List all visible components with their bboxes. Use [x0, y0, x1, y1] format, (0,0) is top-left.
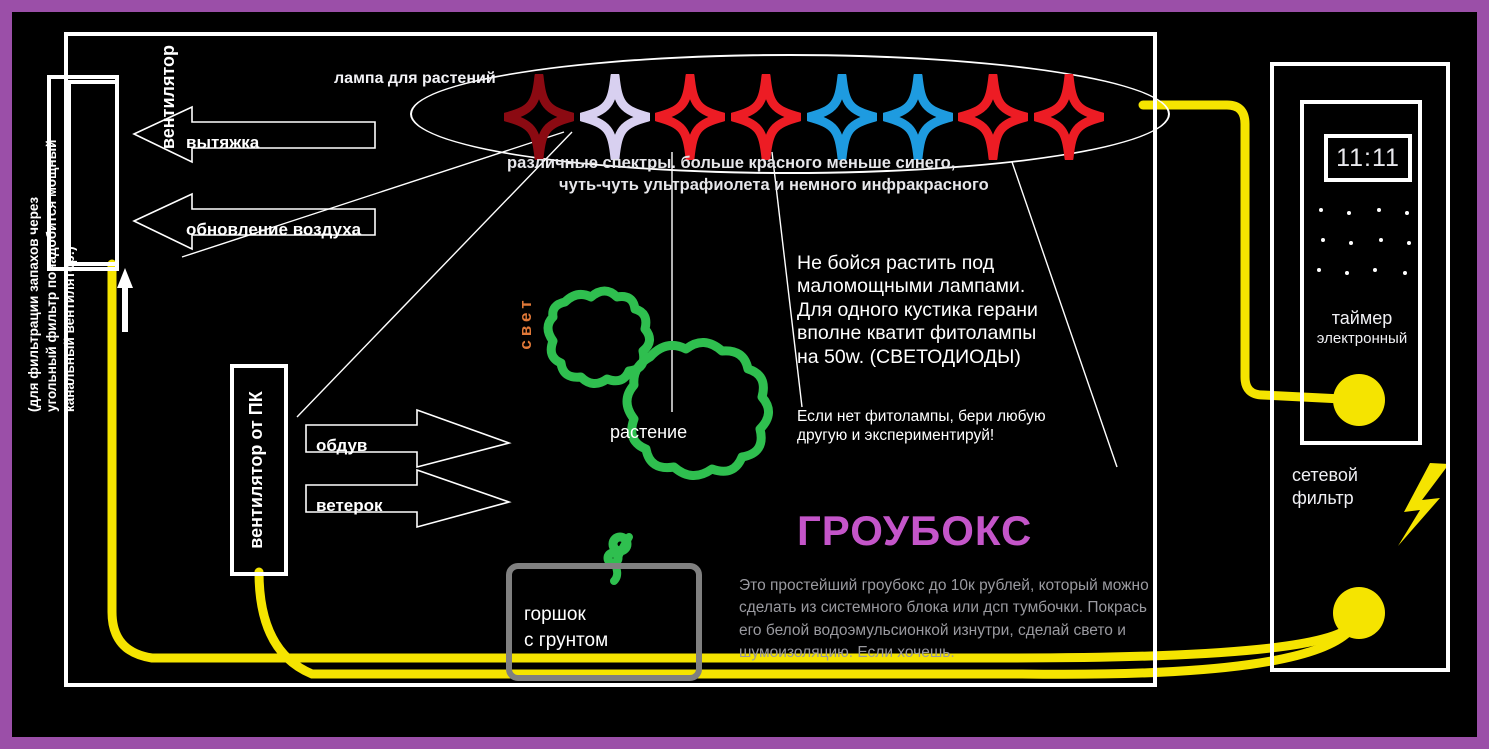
light-label: свет	[516, 263, 538, 383]
air-renewal-arrow: обновление воздуха	[134, 209, 384, 251]
timer-dot[interactable]	[1319, 208, 1323, 212]
spectrum-description: различные спектры. больше красного меньш…	[507, 152, 1107, 197]
air-renewal-label: обновление воздуха	[186, 220, 361, 240]
timer-caption-line-1: таймер	[1300, 308, 1424, 330]
timer-dot[interactable]	[1407, 241, 1411, 245]
advice-text: Не бойся растить под маломощными лампами…	[797, 252, 1059, 369]
timer-dot[interactable]	[1377, 208, 1381, 212]
surge-caption-line-2: фильтр	[1292, 487, 1392, 510]
spectrum-line-1: различные спектры. больше красного меньш…	[507, 152, 1107, 174]
main-fan-label: вентилятор	[158, 0, 184, 197]
filter-note-line-1: (для фильтрации запахов через	[25, 112, 43, 412]
star-red-4	[1034, 74, 1104, 160]
star-red-3	[958, 74, 1028, 160]
timer-dot[interactable]	[1405, 211, 1409, 215]
timer-display-value: 11:11	[1336, 146, 1400, 171]
plant-label: растение	[610, 422, 687, 443]
timer-button-dots[interactable]	[1317, 208, 1409, 296]
lamp-label: лампа для растений	[334, 70, 496, 88]
timer-caption: таймер электронный	[1300, 308, 1424, 348]
star-blue-2	[883, 74, 953, 160]
breeze-arrow: ветерок	[306, 485, 426, 527]
pc-fan-label: вентилятор от ПК	[246, 380, 272, 560]
spectrum-line-2: чуть-чуть ультрафиолета и немного инфрак…	[559, 174, 1107, 196]
timer-dot[interactable]	[1347, 211, 1351, 215]
blow-label: обдув	[316, 436, 367, 456]
blurb-text: Это простейший гроубокс до 10к рублей, к…	[739, 575, 1151, 665]
surge-caption-line-1: сетевой	[1292, 464, 1392, 487]
star-ultraviolet	[580, 74, 650, 160]
surge-filter-caption: сетевой фильтр	[1292, 464, 1392, 509]
timer-dot[interactable]	[1349, 241, 1353, 245]
carbon-filter-note: (для фильтрации запахов через угольный ф…	[25, 112, 78, 412]
exhaust-arrow: вытяжка	[134, 122, 384, 164]
filter-note-line-3: канальный вентилятор!)	[61, 112, 79, 412]
advice-small-text: Если нет фитолампы, бери любую другую и …	[797, 408, 1059, 446]
star-red-1	[655, 74, 725, 160]
timer-dot[interactable]	[1379, 238, 1383, 242]
exhaust-label: вытяжка	[186, 133, 259, 153]
star-red-2	[731, 74, 801, 160]
growbox-diagram: вентилятор вентилятор от ПК (для фильтра…	[0, 0, 1489, 749]
pot-label: горшок с грунтом	[524, 602, 608, 653]
blow-arrow: обдув	[306, 425, 426, 467]
timer-dot[interactable]	[1321, 238, 1325, 242]
timer-caption-line-2: электронный	[1300, 330, 1424, 348]
timer-dot[interactable]	[1345, 271, 1349, 275]
timer-dot[interactable]	[1403, 271, 1407, 275]
timer-display[interactable]: 11:11	[1324, 134, 1412, 182]
pot-label-line-1: горшок	[524, 602, 608, 628]
timer-dot[interactable]	[1373, 268, 1377, 272]
lamp-spectrum-stars	[504, 74, 1104, 160]
star-blue-1	[807, 74, 877, 160]
timer-dot[interactable]	[1317, 268, 1321, 272]
star-infrared	[504, 74, 574, 160]
breeze-label: ветерок	[316, 496, 383, 516]
page-title: ГРОУБОКС	[797, 507, 1032, 555]
filter-note-line-2: угольный фильтр понадобится мощный	[43, 112, 61, 412]
pot-label-line-2: с грунтом	[524, 628, 608, 654]
